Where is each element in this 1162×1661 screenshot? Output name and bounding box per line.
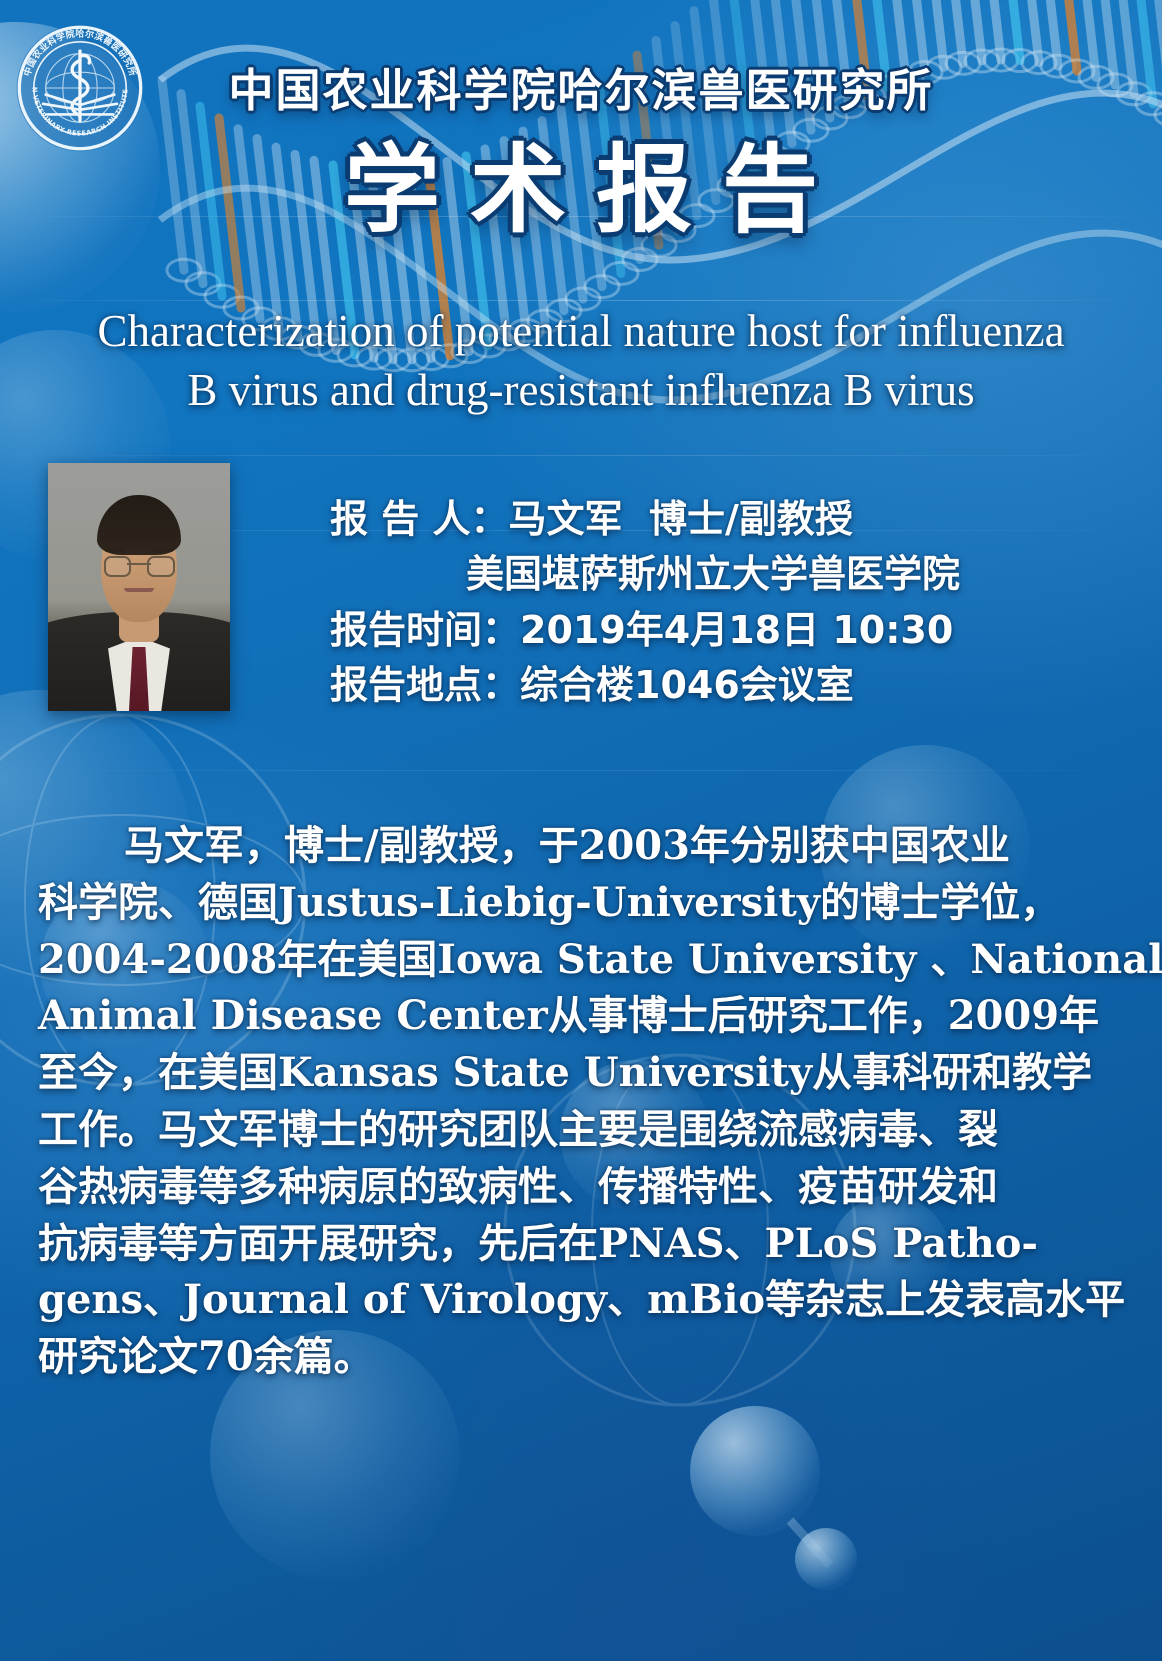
bio-line: Animal Disease Center从事博士后研究工作，2009年 — [38, 988, 1124, 1045]
molecule-sphere — [795, 1528, 857, 1590]
speaker-affiliation-row: 美国堪萨斯州立大学兽医学院 — [330, 547, 960, 602]
time-label: 报告时间： — [330, 608, 520, 652]
talk-title-line-2: B virus and drug-resistant influenza B v… — [22, 361, 1140, 420]
bio-line: 科学院、德国Justus-Liebig-University的博士学位， — [38, 875, 1124, 932]
poster-heading-cn: 学术报告 — [0, 140, 1162, 241]
bio-line: 研究论文70余篇。 — [38, 1329, 1124, 1386]
speaker-label: 报 告 人： — [330, 497, 508, 541]
bio-line: 马文军，博士/副教授，于2003年分别获中国农业 — [38, 818, 1124, 875]
time-value: 2019年4月18日 10:30 — [520, 608, 953, 652]
institute-name: 中国农业科学院哈尔滨兽医研究所 — [0, 54, 1162, 119]
seminar-poster: 中国农业科学院哈尔滨兽医研究所 HARBIN VETERINARY RESEAR… — [0, 0, 1162, 1661]
talk-title-en: Characterization of potential nature hos… — [22, 302, 1140, 419]
talk-details: 报 告 人：马文军 博士/副教授 美国堪萨斯州立大学兽医学院 报告时间：2019… — [330, 492, 960, 714]
speaker-title: 博士/副教授 — [649, 497, 853, 541]
bio-line: gens、Journal of Virology、mBio等杂志上发表高水平 — [38, 1272, 1124, 1329]
speaker-affiliation: 美国堪萨斯州立大学兽医学院 — [466, 552, 960, 596]
bio-line: 2004-2008年在美国Iowa State University 、Nati… — [38, 932, 1124, 989]
bio-line: 抗病毒等方面开展研究，先后在PNAS、PLoS Patho- — [38, 1216, 1124, 1273]
molecule-sphere — [690, 1406, 820, 1536]
bio-line: 工作。马文军博士的研究团队主要是围绕流感病毒、裂 — [38, 1102, 1124, 1159]
venue-label: 报告地点： — [330, 663, 520, 707]
talk-title-line-1: Characterization of potential nature hos… — [22, 302, 1140, 361]
venue-row: 报告地点：综合楼1046会议室 — [330, 658, 960, 713]
speaker-portrait — [48, 463, 230, 711]
bio-line: 至今，在美国Kansas State University从事科研和教学 — [38, 1045, 1124, 1102]
venue-value: 综合楼1046会议室 — [520, 663, 854, 707]
molecule-bond — [787, 1517, 834, 1568]
speaker-row: 报 告 人：马文军 博士/副教授 — [330, 492, 960, 547]
speaker-biography: 马文军，博士/副教授，于2003年分别获中国农业 科学院、德国Justus-Li… — [38, 818, 1124, 1386]
bio-line: 谷热病毒等多种病原的致病性、传播特性、疫苗研发和 — [38, 1159, 1124, 1216]
time-row: 报告时间：2019年4月18日 10:30 — [330, 603, 960, 658]
speaker-name: 马文军 — [508, 497, 622, 541]
